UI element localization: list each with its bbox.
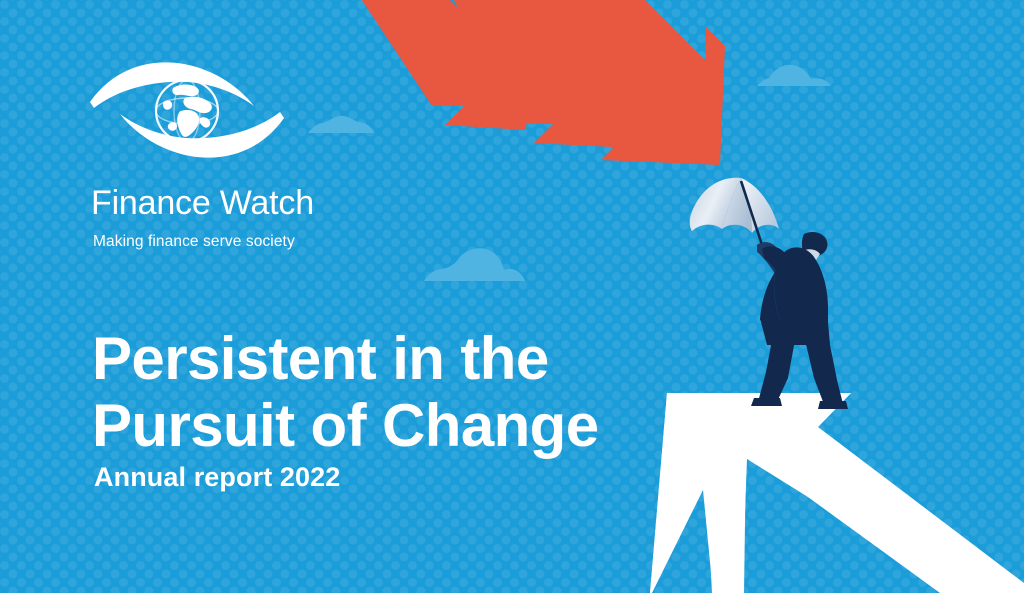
page-title-line-1: Persistent in the — [92, 325, 712, 392]
brand-tagline: Making finance serve society — [93, 234, 418, 250]
page-title-line-2: Pursuit of Change — [92, 392, 712, 459]
brand-name: Finance Watch — [91, 186, 418, 220]
umbrella-icon — [690, 178, 779, 245]
page-title: Persistent in the Pursuit of Change — [92, 325, 712, 459]
eye-globe-logo-icon — [88, 62, 288, 174]
logo-block: Finance Watch Making finance serve socie… — [88, 62, 418, 250]
page-subtitle: Annual report 2022 — [94, 462, 340, 493]
report-cover: Finance Watch Making finance serve socie… — [0, 0, 1024, 593]
figure-body-icon — [751, 232, 848, 409]
